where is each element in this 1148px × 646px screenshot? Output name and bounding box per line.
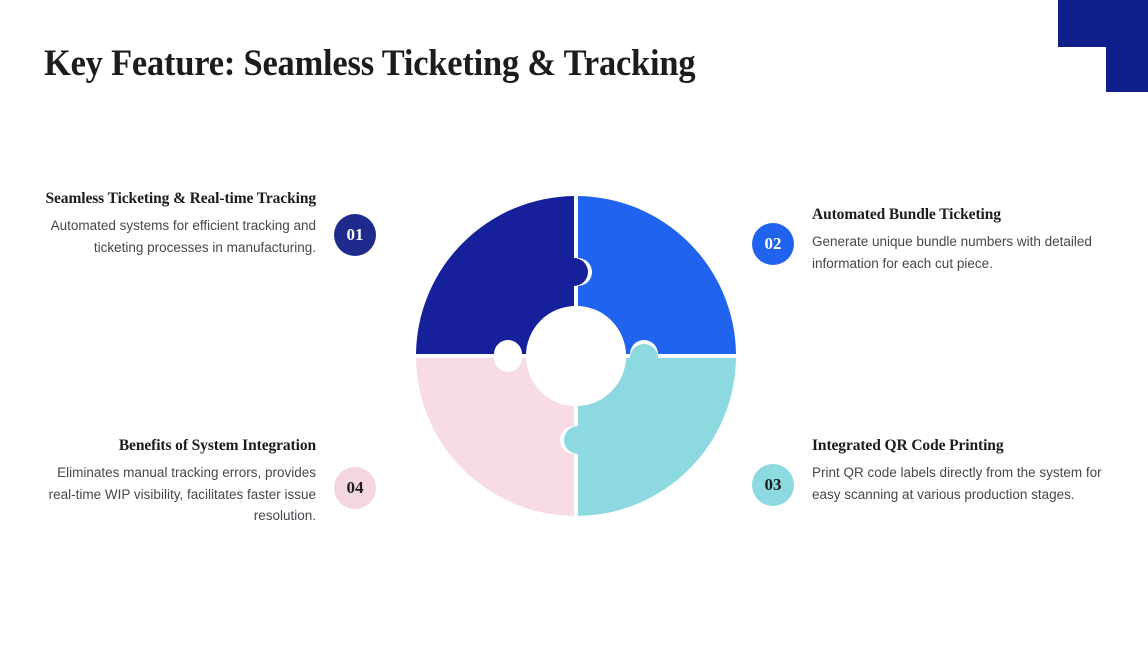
feature-badge-03[interactable]: 03 [752,464,794,506]
feature-badge-02[interactable]: 02 [752,223,794,265]
page-title: Key Feature: Seamless Ticketing & Tracki… [44,41,695,87]
feature-badge-number-04: 04 [347,478,364,498]
feature-block-04[interactable]: Benefits of System Integration Eliminate… [44,435,376,527]
feature-badge-number-01: 01 [347,225,364,245]
feature-block-03[interactable]: 03 Integrated QR Code Printing Print QR … [752,435,1112,506]
feature-text-03: Integrated QR Code Printing Print QR cod… [812,435,1112,505]
feature-text-04: Benefits of System Integration Eliminate… [44,435,316,527]
feature-block-01[interactable]: Seamless Ticketing & Real-time Tracking … [44,188,376,258]
feature-title-01: Seamless Ticketing & Real-time Tracking [46,188,317,209]
feature-badge-number-03: 03 [765,475,782,495]
feature-title-03: Integrated QR Code Printing [812,435,1003,456]
feature-description-02: Generate unique bundle numbers with deta… [812,231,1112,274]
feature-text-02: Automated Bundle Ticketing Generate uniq… [812,204,1112,274]
feature-title-04: Benefits of System Integration [119,435,316,456]
puzzle-wheel-diagram [406,186,746,526]
puzzle-wheel-svg [406,186,746,526]
feature-description-04: Eliminates manual tracking errors, provi… [44,462,316,527]
feature-badge-01[interactable]: 01 [334,214,376,256]
feature-text-01: Seamless Ticketing & Real-time Tracking … [44,188,316,258]
feature-badge-number-02: 02 [765,234,782,254]
corner-accent-right-bar [1106,47,1148,92]
feature-title-02: Automated Bundle Ticketing [812,204,1001,225]
puzzle-center-hub [526,306,626,406]
feature-badge-04[interactable]: 04 [334,467,376,509]
feature-description-03: Print QR code labels directly from the s… [812,462,1112,505]
feature-description-01: Automated systems for efficient tracking… [44,215,316,258]
corner-accent-top-bar [1058,0,1148,47]
feature-block-02[interactable]: 02 Automated Bundle Ticketing Generate u… [752,204,1112,274]
slide-canvas: Key Feature: Seamless Ticketing & Tracki… [0,0,1148,646]
corner-accent-decoration [1058,0,1148,92]
